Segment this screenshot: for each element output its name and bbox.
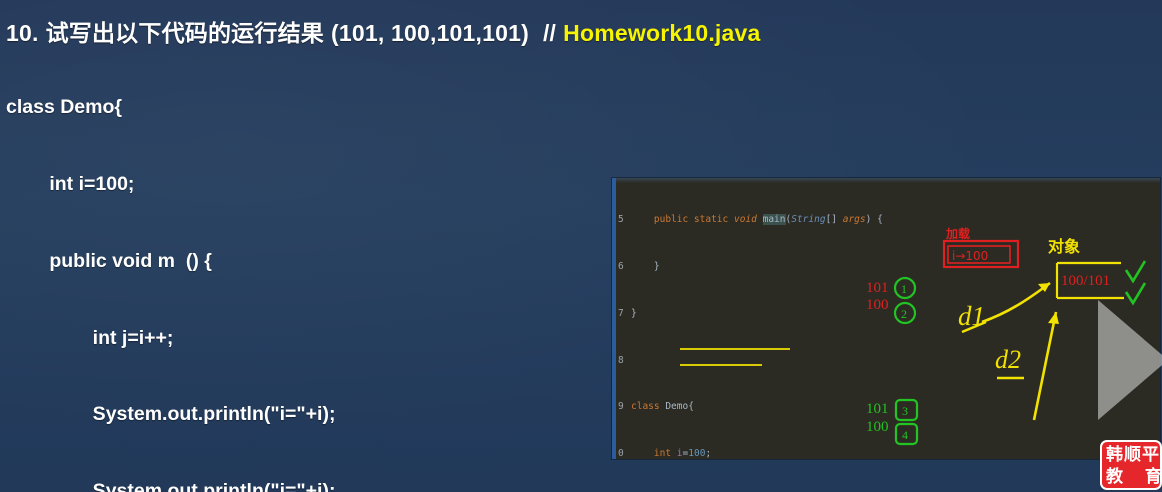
code-line: int j=i++; [6, 326, 396, 352]
ide-line-number: 5 [618, 212, 631, 228]
ide-line-number: 9 [618, 399, 631, 415]
ide-highlighted-token: main [763, 214, 786, 225]
ide-line: 9class Demo{ [618, 399, 917, 415]
slide-canvas: 10.试写出以下代码的运行结果(101, 100,101,101)//Homew… [0, 0, 1162, 492]
ide-line: 0 int i=100; [618, 446, 917, 459]
code-line: class Demo{ [6, 95, 396, 121]
slide-code-block: class Demo{ int i=100; public void m () … [6, 44, 396, 492]
ide-line: 7} [618, 306, 917, 322]
ide-line: 6 } [618, 259, 917, 275]
watermark-line-2: 教 育 [1106, 466, 1157, 488]
ide-code-area: 5 public static void main(String[] args)… [618, 181, 917, 459]
ide-line: 5 public static void main(String[] args)… [618, 212, 917, 228]
ide-line-number: 7 [618, 306, 631, 322]
homework-filename: Homework10.java [563, 20, 760, 46]
ide-gutter-accent-bar [612, 178, 616, 459]
expected-answer: (101, 100,101,101) [331, 20, 529, 46]
watermark-line-1: 韩顺平 [1106, 444, 1157, 466]
code-line: public void m () { [6, 249, 396, 275]
ide-line-number: 0 [618, 446, 631, 459]
slide-title: 10.试写出以下代码的运行结果(101, 100,101,101)//Homew… [6, 14, 760, 48]
comment-slashes: // [543, 20, 556, 46]
code-line: int i=100; [6, 172, 396, 198]
code-line: System.out.println("i="+i); [6, 402, 396, 428]
code-line: System.out.println("j="+j); [6, 479, 396, 492]
question-number: 10. [6, 20, 39, 46]
embedded-ide-screenshot: 5 public static void main(String[] args)… [612, 178, 1160, 459]
ide-line-number: 8 [618, 353, 631, 369]
watermark-badge: 韩顺平 教 育 [1100, 440, 1162, 490]
ide-line-number: 6 [618, 259, 631, 275]
ide-line: 8 [618, 353, 917, 369]
